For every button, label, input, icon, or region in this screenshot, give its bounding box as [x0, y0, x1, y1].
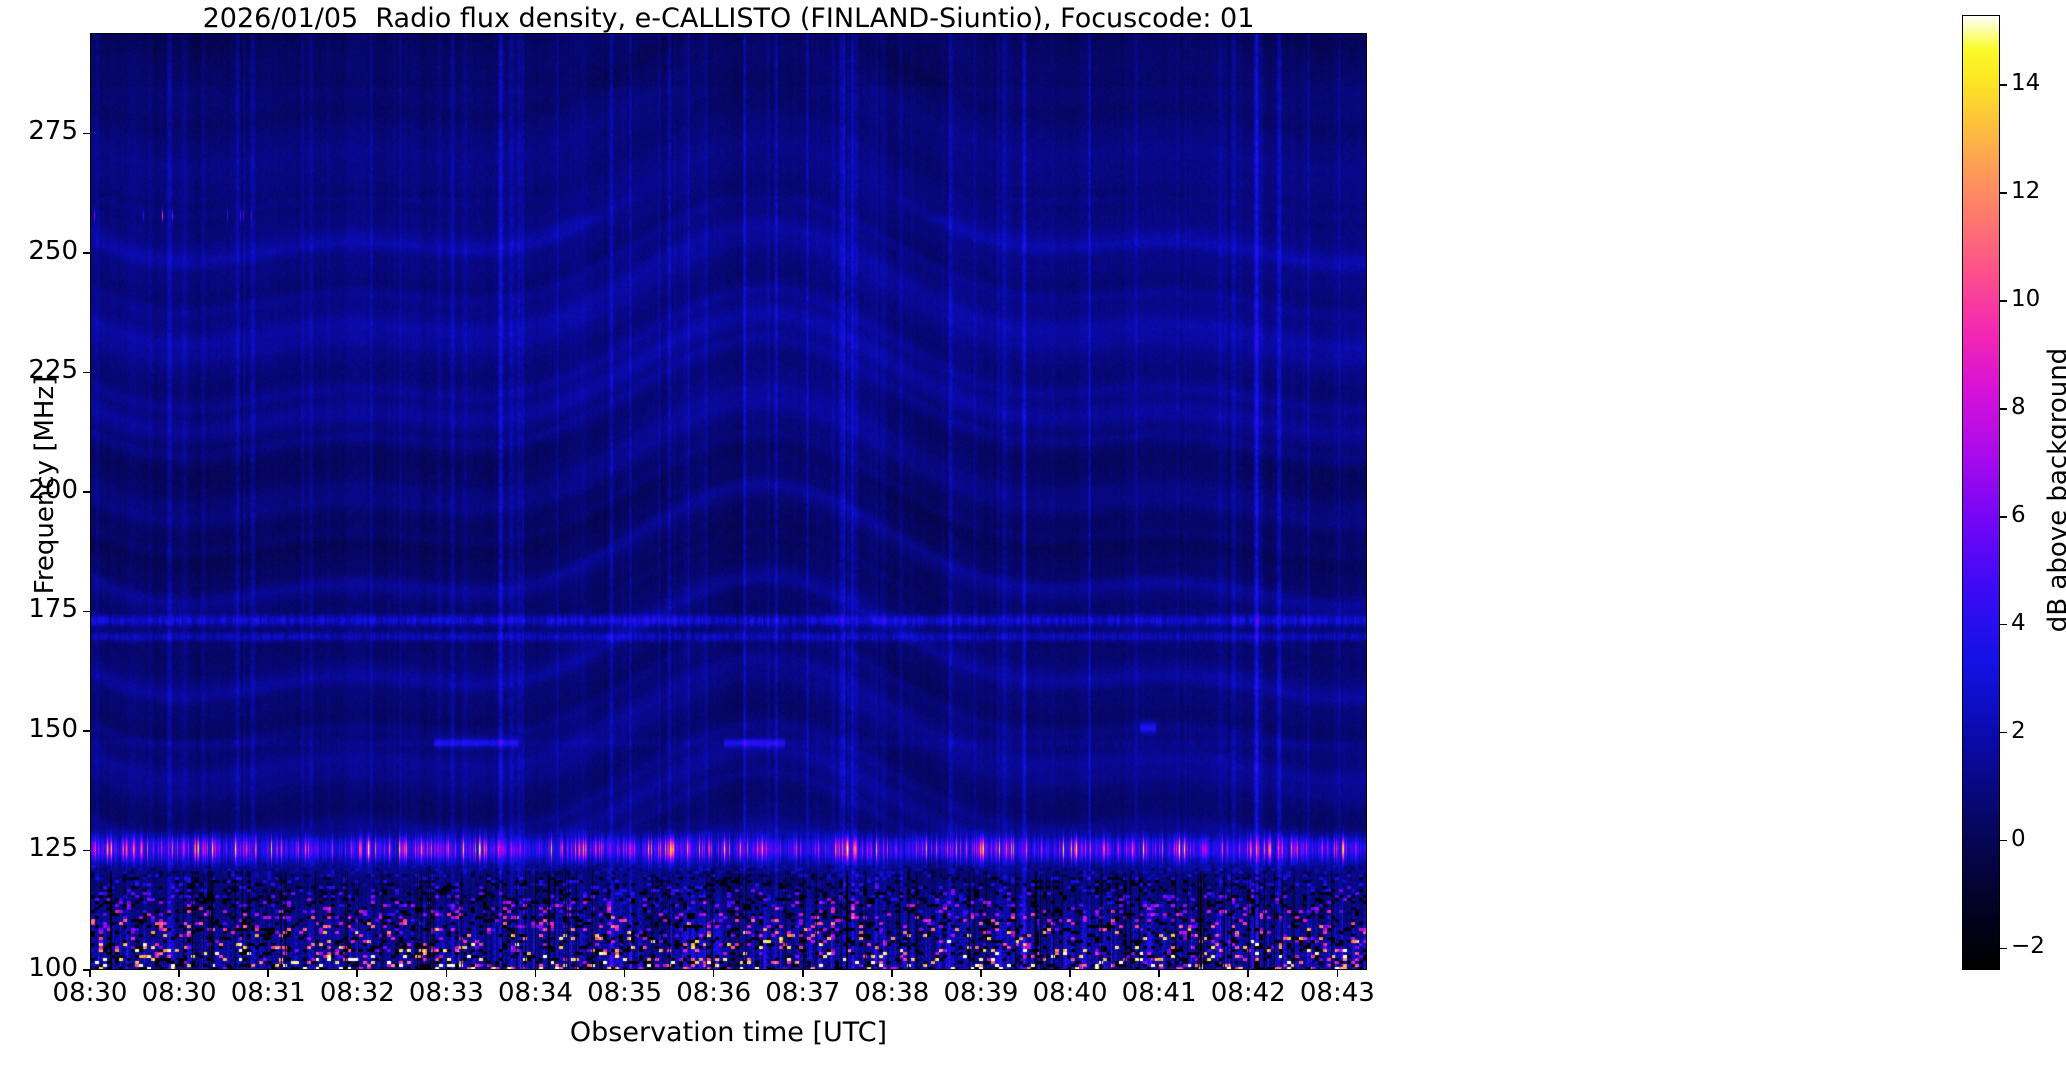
y-tick-label: 275	[0, 116, 78, 146]
colorbar-tick-label: 2	[2011, 718, 2026, 744]
colorbar-tick-label: 14	[2011, 70, 2040, 96]
x-tick-mark	[891, 970, 893, 977]
y-tick-mark	[83, 850, 90, 852]
x-tick-mark	[624, 970, 626, 977]
colorbar-tick-mark	[2000, 192, 2007, 194]
y-tick-label: 125	[0, 833, 78, 863]
x-axis-label: Observation time [UTC]	[90, 1017, 1367, 1048]
x-tick-mark	[267, 970, 269, 977]
y-tick-label: 250	[0, 236, 78, 266]
colorbar-tick-label: 10	[2011, 286, 2040, 312]
y-tick-label: 175	[0, 594, 78, 624]
spectrogram-image	[91, 34, 1366, 969]
x-tick-mark	[446, 970, 448, 977]
x-tick-mark	[535, 970, 537, 977]
figure-title: 2026/01/05 Radio flux density, e-CALLIST…	[90, 4, 1367, 34]
x-tick-mark	[1069, 970, 1071, 977]
y-tick-label: 200	[0, 475, 78, 505]
colorbar-tick-label: 12	[2011, 178, 2040, 204]
colorbar-tick-mark	[2000, 840, 2007, 842]
x-tick-mark	[178, 970, 180, 977]
x-tick-label: 08:43	[1272, 978, 1402, 1008]
x-tick-mark	[1158, 970, 1160, 977]
x-tick-mark	[89, 970, 91, 977]
colorbar-tick-mark	[2000, 624, 2007, 626]
colorbar-tick-label: 8	[2011, 394, 2026, 420]
x-tick-mark	[1337, 970, 1339, 977]
colorbar	[1962, 15, 2000, 970]
y-tick-label: 150	[0, 714, 78, 744]
y-tick-mark	[83, 372, 90, 374]
colorbar-tick-label: 0	[2011, 826, 2026, 852]
x-tick-mark	[980, 970, 982, 977]
spectrogram-plot-area[interactable]	[90, 33, 1367, 970]
x-tick-mark	[802, 970, 804, 977]
y-tick-mark	[83, 730, 90, 732]
x-tick-mark	[1247, 970, 1249, 977]
colorbar-tick-mark	[2000, 948, 2007, 950]
colorbar-tick-mark	[2000, 84, 2007, 86]
colorbar-gradient	[1963, 16, 1999, 969]
y-tick-mark	[83, 491, 90, 493]
colorbar-tick-label: −2	[2011, 933, 2045, 959]
y-tick-mark	[83, 133, 90, 135]
colorbar-tick-mark	[2000, 516, 2007, 518]
x-tick-mark	[713, 970, 715, 977]
spectrogram-figure: 2026/01/05 Radio flux density, e-CALLIST…	[0, 0, 2066, 1067]
x-tick-mark	[356, 970, 358, 977]
y-tick-label: 225	[0, 355, 78, 385]
colorbar-tick-label: 4	[2011, 610, 2026, 636]
colorbar-tick-mark	[2000, 300, 2007, 302]
colorbar-tick-mark	[2000, 732, 2007, 734]
colorbar-tick-label: 6	[2011, 502, 2026, 528]
colorbar-tick-mark	[2000, 408, 2007, 410]
colorbar-label: dB above background	[2043, 170, 2066, 810]
y-tick-mark	[83, 252, 90, 254]
y-tick-mark	[83, 611, 90, 613]
